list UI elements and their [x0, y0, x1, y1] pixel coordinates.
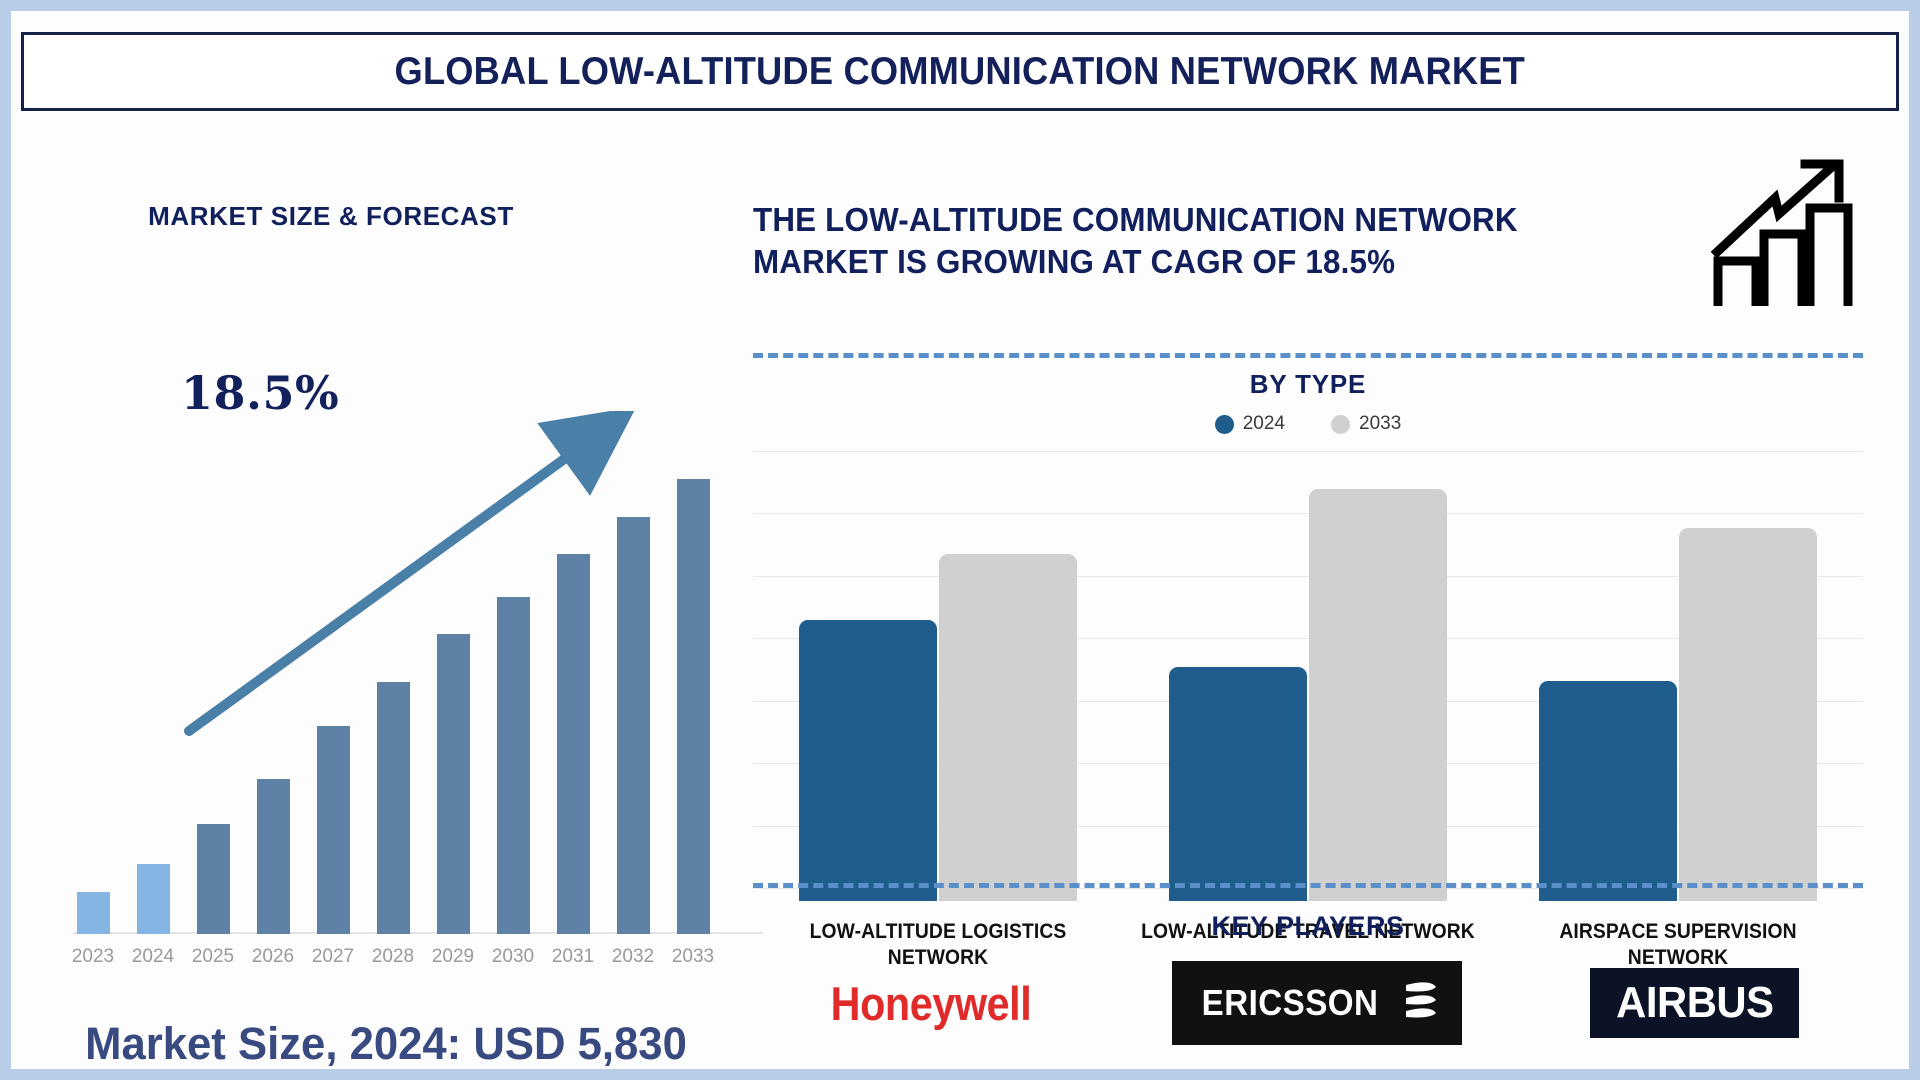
key-players-title: KEY PLAYERS — [753, 911, 1863, 942]
market-size-value: Market Size, 2024: USD 5,830 Million — [51, 1016, 720, 1080]
market-size-bar-slot — [63, 479, 123, 934]
year-tick-label: 2025 — [183, 946, 243, 968]
market-size-bar-slot — [123, 479, 183, 934]
market-size-bar-slot — [243, 479, 303, 934]
year-tick-label: 2026 — [243, 946, 303, 968]
insights-panel: THE LOW-ALTITUDE COMMUNICATION NETWORK M… — [753, 121, 1899, 1061]
market-size-bar — [377, 682, 410, 934]
by-type-group — [753, 451, 1123, 901]
market-size-bar-slot — [363, 479, 423, 934]
year-tick-label: 2028 — [363, 946, 423, 968]
logo-honeywell: Honeywell — [830, 976, 1031, 1031]
year-tick-label: 2032 — [603, 946, 663, 968]
by-type-title: BY TYPE — [753, 369, 1863, 400]
year-tick-label: 2033 — [663, 946, 723, 968]
divider-top — [753, 353, 1863, 358]
chart-legend: 20242033 — [753, 413, 1863, 435]
market-size-bars — [63, 479, 753, 934]
market-size-year-axis: 2023202420252026202720282029203020312032… — [63, 946, 753, 968]
year-tick-label: 2029 — [423, 946, 483, 968]
market-size-bar — [677, 479, 710, 934]
market-size-bar — [257, 779, 290, 934]
market-size-heading: MARKET SIZE & FORECAST — [21, 201, 641, 232]
by-type-bar-groups — [753, 451, 1863, 901]
market-size-bar — [77, 892, 110, 934]
by-type-bar-2033 — [1679, 528, 1817, 901]
market-size-bar — [317, 726, 350, 934]
year-tick-label: 2023 — [63, 946, 123, 968]
by-type-bar-2033 — [1309, 489, 1447, 901]
key-players-logos: Honeywell ERICSSON AIRBUS — [753, 961, 1863, 1045]
legend-label: 2024 — [1243, 413, 1285, 435]
year-tick-label: 2027 — [303, 946, 363, 968]
by-type-bar-2024 — [799, 620, 937, 901]
market-size-bar — [617, 517, 650, 934]
legend-item: 2024 — [1215, 413, 1285, 435]
market-size-bar-slot — [483, 479, 543, 934]
by-type-group — [1123, 451, 1493, 901]
year-tick-label: 2030 — [483, 946, 543, 968]
logo-airbus: AIRBUS — [1590, 968, 1800, 1038]
legend-swatch-icon — [1215, 415, 1234, 434]
by-type-group — [1493, 451, 1863, 901]
market-size-bar — [557, 554, 590, 934]
market-size-bar-slot — [663, 479, 723, 934]
by-type-bar-2033 — [939, 554, 1077, 901]
market-size-bar-slot — [423, 479, 483, 934]
market-size-bar — [497, 597, 530, 934]
market-size-bar — [137, 864, 170, 934]
logo-airbus-text: AIRBUS — [1616, 978, 1773, 1028]
infographic-root: GLOBAL LOW-ALTITUDE COMMUNICATION NETWOR… — [0, 0, 1920, 1080]
market-size-bar-slot — [303, 479, 363, 934]
market-size-bar-slot — [603, 479, 663, 934]
by-type-bar-2024 — [1539, 681, 1677, 901]
cagr-headline: THE LOW-ALTITUDE COMMUNICATION NETWORK M… — [753, 199, 1627, 283]
by-type-bar-2024 — [1169, 667, 1307, 901]
legend-swatch-icon — [1331, 415, 1350, 434]
legend-item: 2033 — [1331, 413, 1401, 435]
market-size-bar — [197, 824, 230, 934]
divider-bottom — [753, 883, 1863, 888]
ericsson-wave-icon — [1400, 977, 1440, 1029]
year-tick-label: 2024 — [123, 946, 183, 968]
by-type-chart — [753, 451, 1863, 901]
logo-ericsson-text: ERICSSON — [1202, 982, 1379, 1024]
market-size-forecast-chart: 2023202420252026202720282029203020312032… — [51, 451, 751, 976]
legend-label: 2033 — [1359, 413, 1401, 435]
market-size-bar-slot — [543, 479, 603, 934]
bar-chart-growth-icon — [1703, 146, 1863, 306]
market-size-bar-slot — [183, 479, 243, 934]
market-size-bar — [437, 634, 470, 934]
logo-ericsson: ERICSSON — [1172, 961, 1462, 1045]
title-banner: GLOBAL LOW-ALTITUDE COMMUNICATION NETWOR… — [21, 32, 1899, 111]
market-size-panel: MARKET SIZE & FORECAST 18.5% 20232024202… — [21, 121, 751, 1061]
year-tick-label: 2031 — [543, 946, 603, 968]
page-title: GLOBAL LOW-ALTITUDE COMMUNICATION NETWOR… — [395, 50, 1525, 94]
